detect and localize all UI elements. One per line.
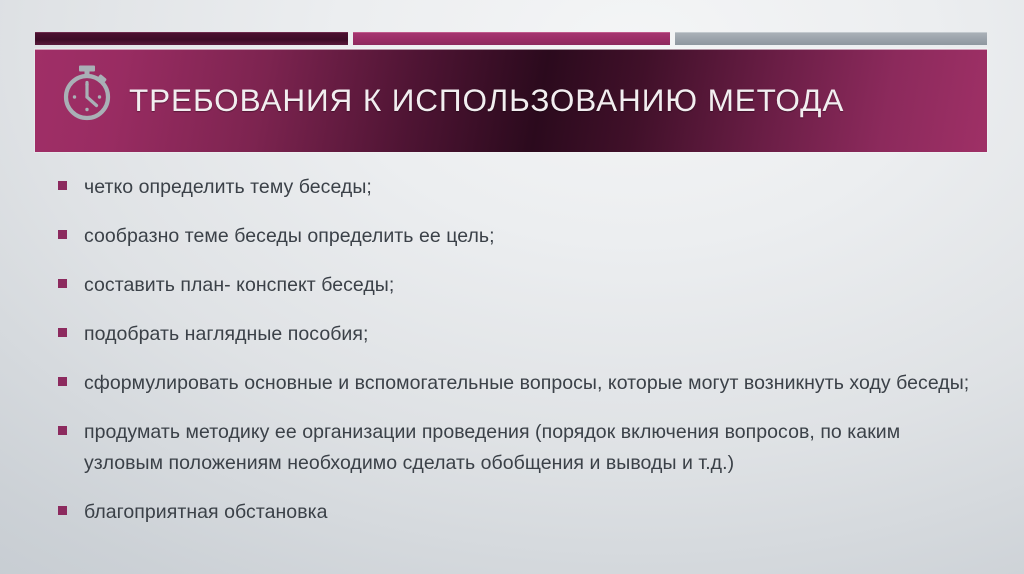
bullet-square-icon	[58, 328, 67, 337]
list-item: сообразно теме беседы определить ее цель…	[58, 221, 970, 252]
slide-title-band: ТРЕБОВАНИЯ К ИСПОЛЬЗОВАНИЮ МЕТОДА	[35, 49, 987, 152]
list-item: подобрать наглядные пособия;	[58, 319, 970, 350]
list-item-text: благоприятная обстановка	[84, 497, 970, 528]
list-item: четко определить тему беседы;	[58, 172, 970, 203]
bullet-square-icon	[58, 506, 67, 515]
list-item-text: сообразно теме беседы определить ее цель…	[84, 221, 970, 252]
list-item-text: продумать методику ее организации провед…	[84, 417, 970, 479]
bullet-list: четко определить тему беседы; сообразно …	[58, 172, 970, 546]
top-bar-segment-gray	[675, 32, 987, 45]
top-bar-segment-magenta	[353, 32, 670, 45]
bullet-square-icon	[58, 181, 67, 190]
list-item: составить план- конспект беседы;	[58, 270, 970, 301]
slide-canvas: ТРЕБОВАНИЯ К ИСПОЛЬЗОВАНИЮ МЕТОДА четко …	[0, 0, 1024, 574]
top-bar-segment-dark	[35, 32, 348, 45]
list-item-text: четко определить тему беседы;	[84, 172, 970, 203]
list-item-text: составить план- конспект беседы;	[84, 270, 970, 301]
page-title: ТРЕБОВАНИЯ К ИСПОЛЬЗОВАНИЮ МЕТОДА	[129, 49, 969, 152]
bullet-square-icon	[58, 377, 67, 386]
bullet-square-icon	[58, 426, 67, 435]
decorative-top-bars	[35, 32, 987, 45]
bullet-square-icon	[58, 230, 67, 239]
list-item: сформулировать основные и вспомогательны…	[58, 368, 970, 399]
list-item: благоприятная обстановка	[58, 497, 970, 528]
bullet-square-icon	[58, 279, 67, 288]
list-item-text: сформулировать основные и вспомогательны…	[84, 368, 970, 399]
stopwatch-icon	[56, 61, 118, 123]
list-item-text: подобрать наглядные пособия;	[84, 319, 970, 350]
list-item: продумать методику ее организации провед…	[58, 417, 970, 479]
